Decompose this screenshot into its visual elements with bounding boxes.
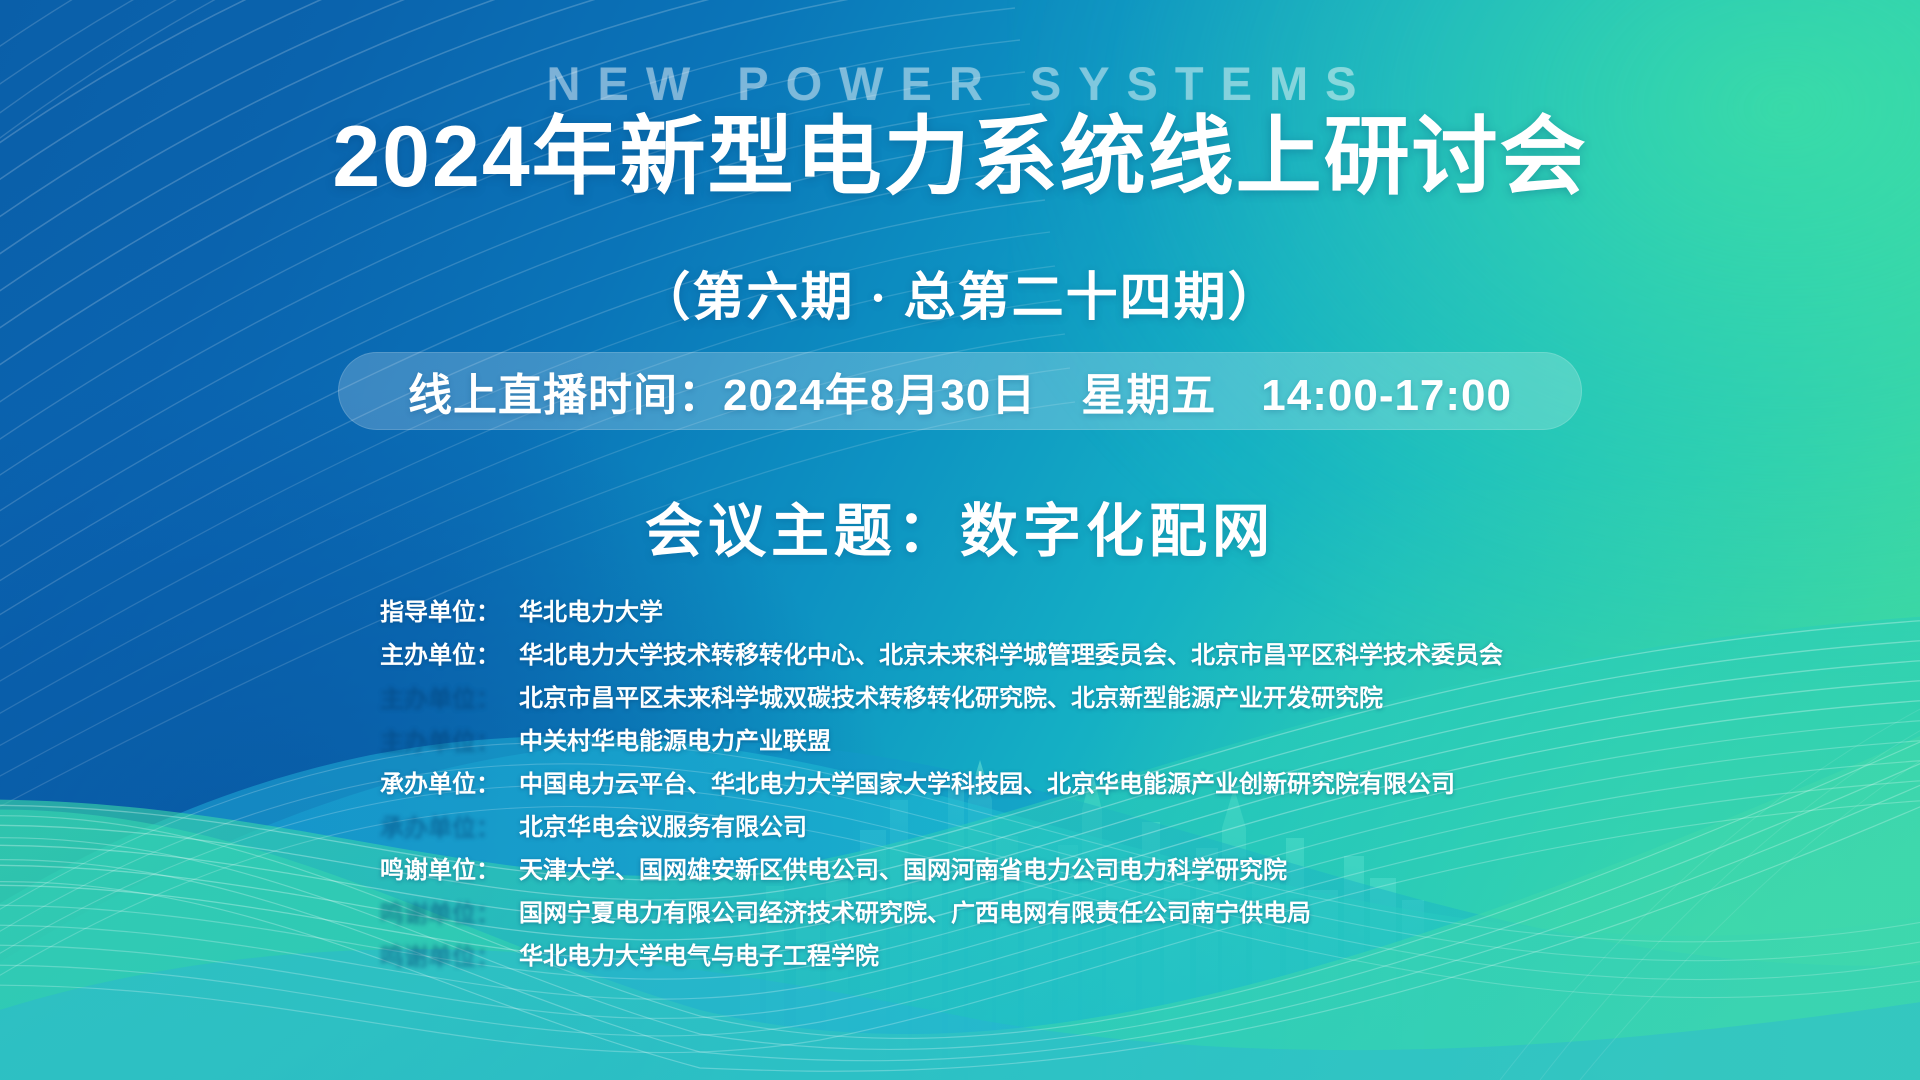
list-item: 指导单位： 华北电力大学: [380, 592, 1580, 634]
list-item: 鸣谢单位： 国网宁夏电力有限公司经济技术研究院、广西电网有限责任公司南宁供电局: [380, 893, 1580, 935]
issue-number: （第六期 · 总第二十四期）: [0, 255, 1920, 330]
org-value: 国网宁夏电力有限公司经济技术研究院、广西电网有限责任公司南宁供电局: [519, 893, 1580, 935]
list-item: 主办单位： 北京市昌平区未来科学城双碳技术转移转化研究院、北京新型能源产业开发研…: [380, 678, 1580, 720]
list-item: 鸣谢单位： 华北电力大学电气与电子工程学院: [380, 936, 1580, 978]
list-item: 承办单位： 北京华电会议服务有限公司: [380, 807, 1580, 849]
meeting-theme: 会议主题：数字化配网: [0, 484, 1920, 568]
list-item: 主办单位： 华北电力大学技术转移转化中心、北京未来科学城管理委员会、北京市昌平区…: [380, 635, 1580, 677]
org-value: 华北电力大学技术转移转化中心、北京未来科学城管理委员会、北京市昌平区科学技术委员…: [519, 635, 1580, 677]
org-value: 华北电力大学电气与电子工程学院: [519, 936, 1580, 978]
page-title: 2024年新型电力系统线上研讨会: [0, 112, 1920, 202]
org-label-continuation: 鸣谢单位：: [380, 936, 519, 978]
livestream-time-banner: 线上直播时间：2024年8月30日 星期五 14:00-17:00: [338, 352, 1582, 430]
org-label: 鸣谢单位：: [380, 850, 519, 892]
org-value: 天津大学、国网雄安新区供电公司、国网河南省电力公司电力科学研究院: [519, 850, 1580, 892]
poster-canvas: NEW POWER SYSTEMS 2024年新型电力系统线上研讨会 （第六期 …: [0, 0, 1920, 1080]
org-label-continuation: 鸣谢单位：: [380, 893, 519, 935]
org-value: 中国电力云平台、华北电力大学国家大学科技园、北京华电能源产业创新研究院有限公司: [519, 764, 1580, 806]
list-item: 鸣谢单位： 天津大学、国网雄安新区供电公司、国网河南省电力公司电力科学研究院: [380, 850, 1580, 892]
organization-list: 指导单位： 华北电力大学 主办单位： 华北电力大学技术转移转化中心、北京未来科学…: [380, 592, 1580, 979]
list-item: 承办单位： 中国电力云平台、华北电力大学国家大学科技园、北京华电能源产业创新研究…: [380, 764, 1580, 806]
org-value: 北京华电会议服务有限公司: [519, 807, 1580, 849]
org-value: 华北电力大学: [519, 592, 1580, 634]
org-value: 中关村华电能源电力产业联盟: [519, 721, 1580, 763]
list-item: 主办单位： 中关村华电能源电力产业联盟: [380, 721, 1580, 763]
livestream-time-text: 线上直播时间：2024年8月30日 星期五 14:00-17:00: [408, 359, 1512, 423]
english-subtitle: NEW POWER SYSTEMS: [0, 56, 1920, 111]
org-label-continuation: 主办单位：: [380, 678, 519, 720]
org-label: 指导单位：: [380, 592, 519, 634]
org-label-continuation: 承办单位：: [380, 807, 519, 849]
org-label: 承办单位：: [380, 764, 519, 806]
org-value: 北京市昌平区未来科学城双碳技术转移转化研究院、北京新型能源产业开发研究院: [519, 678, 1580, 720]
org-label-continuation: 主办单位：: [380, 721, 519, 763]
org-label: 主办单位：: [380, 635, 519, 677]
poster-content: NEW POWER SYSTEMS 2024年新型电力系统线上研讨会 （第六期 …: [0, 0, 1920, 1080]
